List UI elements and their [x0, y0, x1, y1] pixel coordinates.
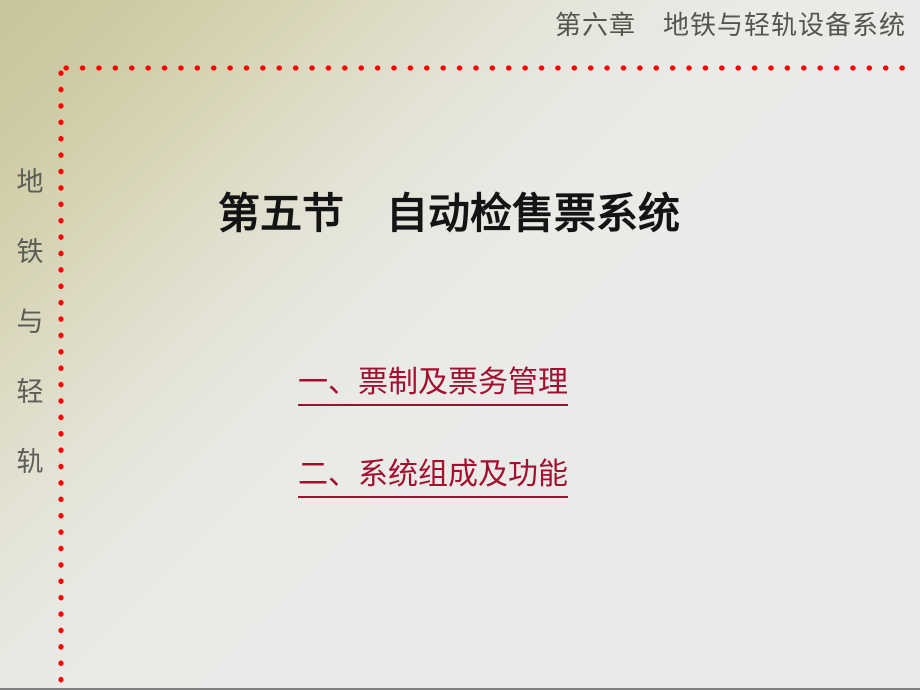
side-caption-char-4: 轻	[8, 358, 52, 428]
page-title: 第六章 地铁与轻轨设备系统	[555, 9, 906, 43]
side-caption-char-5: 轨	[8, 428, 52, 498]
section-link-ticketing-management[interactable]: 一、票制及票务管理	[298, 362, 568, 406]
section-link-list: 一、票制及票务管理 二、系统组成及功能	[298, 362, 818, 546]
section-link-system-composition[interactable]: 二、系统组成及功能	[298, 454, 568, 498]
slide-canvas: 第六章 地铁与轻轨设备系统 地 铁 与 轻 轨 第五节 自动检售票系统 一、票制…	[0, 0, 920, 690]
side-caption-char-2: 铁	[8, 218, 52, 288]
side-caption: 地 铁 与 轻 轨	[8, 148, 52, 498]
dotted-rule-horizontal	[58, 65, 908, 71]
dotted-rule-vertical	[58, 65, 64, 690]
section-title: 第五节 自动检售票系统	[218, 185, 680, 243]
side-caption-char-3: 与	[8, 288, 52, 358]
side-caption-char-1: 地	[8, 148, 52, 218]
